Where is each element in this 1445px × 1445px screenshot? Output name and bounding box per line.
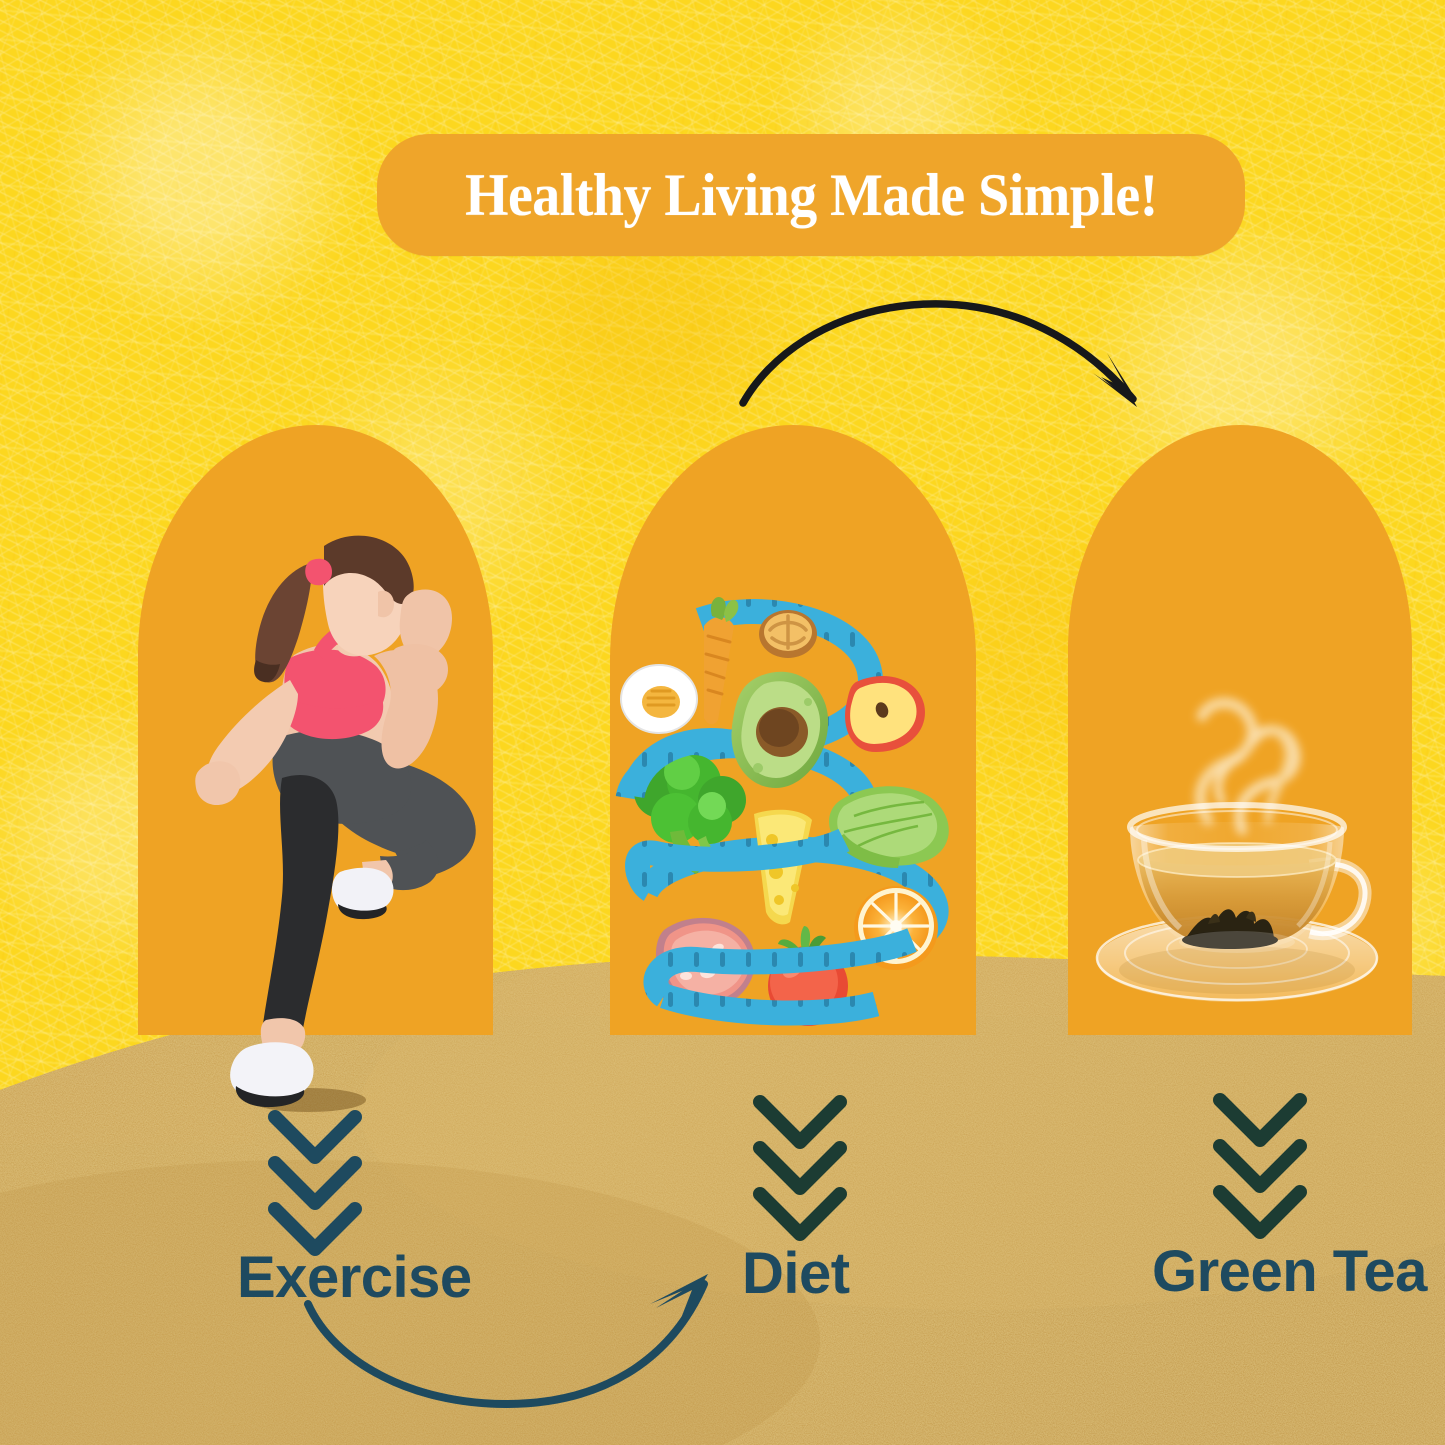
- title-banner: Healthy Living Made Simple!: [377, 134, 1245, 256]
- step-label-green-tea: Green Tea: [1152, 1238, 1427, 1305]
- standing-leg: [262, 775, 338, 1034]
- step-label-diet: Diet: [742, 1240, 850, 1307]
- chevron-group-diet: [740, 1090, 860, 1240]
- step-label-exercise: Exercise: [237, 1244, 472, 1311]
- chevron-down-icon: [275, 1117, 355, 1157]
- healthy-food-measuring-tape-illustration: [612, 592, 980, 1032]
- chevron-down-icon: [275, 1209, 355, 1249]
- glass-teacup-photo: [1082, 670, 1402, 1020]
- arch-dome: [1068, 425, 1412, 650]
- boiled-egg-icon: [621, 665, 697, 733]
- exercising-woman-illustration: [190, 500, 520, 1120]
- walnut-icon: [759, 610, 817, 658]
- rear-fist: [195, 761, 240, 805]
- chevron-down-icon: [1220, 1192, 1300, 1232]
- chevron-down-icon: [1220, 1146, 1300, 1186]
- curved-arrow-right-icon: [735, 295, 1165, 425]
- chevron-down-icon: [1220, 1100, 1300, 1140]
- chevron-down-icon: [275, 1163, 355, 1203]
- chevron-group-exercise: [255, 1105, 375, 1255]
- chevron-group-green-tea: [1200, 1088, 1320, 1238]
- chevron-down-icon: [760, 1194, 840, 1234]
- chevron-down-icon: [760, 1102, 840, 1142]
- page-title: Healthy Living Made Simple!: [465, 161, 1158, 230]
- chevron-down-icon: [760, 1148, 840, 1188]
- hair-tie: [305, 559, 332, 586]
- apple-slice-icon: [845, 676, 925, 752]
- poster-canvas: Healthy Living Made Simple!: [0, 0, 1445, 1445]
